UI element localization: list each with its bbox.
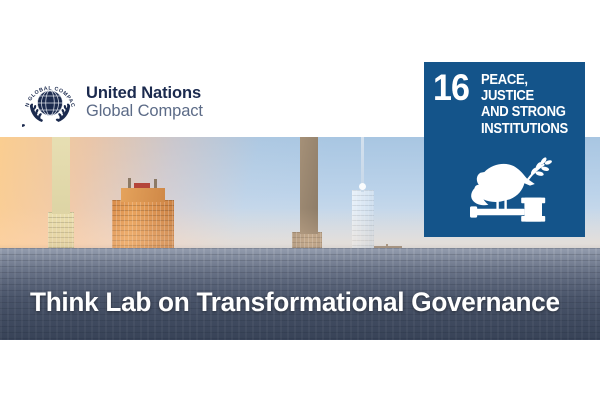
un-global-compact-globe-laurel-emblem: UN GLOBAL COMPACT [22,76,78,130]
footer-whitespace [0,340,600,400]
logo-line-united-nations: United Nations [86,85,203,103]
sdg-label: PEACE, JUSTICE AND STRONG INSTITUTIONS [481,72,569,137]
logo-line-global-compact: Global Compact [86,103,203,121]
think-lab-banner: UN GLOBAL COMPACT [0,0,600,400]
un-global-compact-logo: UN GLOBAL COMPACT [22,76,203,130]
sdg-16-panel: 16 PEACE, JUSTICE AND STRONG INSTITUTION… [424,62,585,237]
sdg-number: 16 [433,72,469,104]
banner-title: Think Lab on Transformational Governance [30,287,560,318]
logo-wordmark: United Nations Global Compact [86,85,203,121]
sdg-header: 16 PEACE, JUSTICE AND STRONG INSTITUTION… [433,72,579,137]
dove-olive-branch-gavel-icon [454,148,558,228]
